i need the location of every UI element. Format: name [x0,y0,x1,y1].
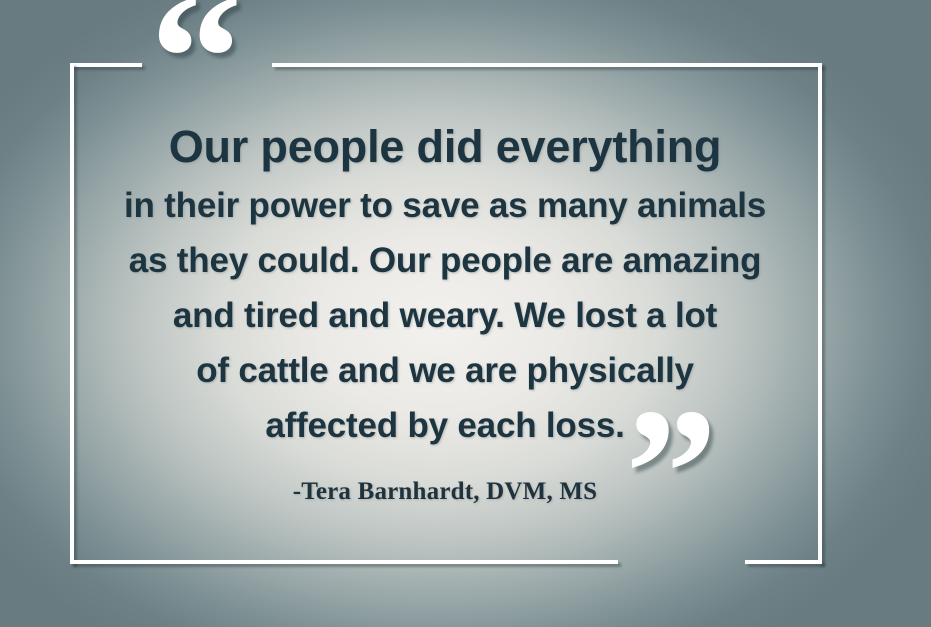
frame-border-top-right [272,63,822,67]
frame-border-bottom-left [70,560,618,564]
quote-line-6: affected by each loss. [95,398,795,453]
quote-line-5: of cattle and we are physically [95,343,795,398]
frame-border-right [818,63,822,564]
quote-attribution: -Tera Barnhardt, DVM, MS [95,478,795,506]
quote-card: “ ” Our people did everything in their p… [0,0,931,627]
frame-border-bottom-right [745,560,822,564]
quote-text-block: Our people did everything in their power… [95,118,795,453]
frame-border-top-left [70,63,142,67]
quote-line-2: in their power to save as many animals [95,178,795,233]
quote-line-4: and tired and weary. We lost a lot [95,288,795,343]
frame-border-left [70,63,74,564]
quote-line-3: as they could. Our people are amazing [95,233,795,288]
quote-line-1: Our people did everything [95,118,795,176]
